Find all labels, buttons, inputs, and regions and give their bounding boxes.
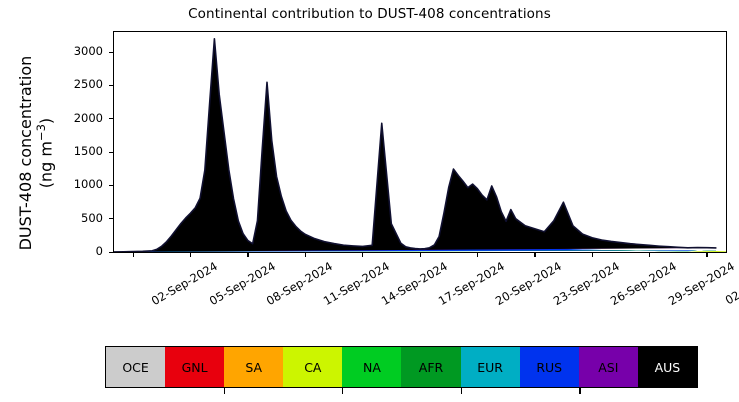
legend-cell-gnl[interactable]: GNL (165, 347, 224, 387)
chart-figure: Continental contribution to DUST-408 con… (0, 0, 739, 402)
legend-cell-rus[interactable]: RUS (520, 347, 579, 387)
legend-label: AFR (419, 360, 443, 375)
x-tick-mark (592, 253, 593, 257)
legend-cell-sa[interactable]: SA (224, 347, 283, 387)
legend-cell-ca[interactable]: CA (283, 347, 342, 387)
y-axis-label-exponent: −3 (34, 124, 48, 141)
legend-label: NA (363, 360, 381, 375)
x-tick-mark (190, 253, 191, 257)
x-tick-mark (362, 253, 363, 257)
x-tick-mark (477, 253, 478, 257)
y-tick-label: 500 (57, 211, 103, 225)
legend-cell-asi[interactable]: ASI (579, 347, 638, 387)
y-tick-label: 2500 (57, 77, 103, 91)
x-tick-mark (420, 253, 421, 257)
y-tick-label: 1500 (57, 144, 103, 158)
colorbar-tick (224, 388, 225, 394)
legend-label: ASI (598, 360, 618, 375)
colorbar-tick (461, 388, 462, 394)
y-axis-label: DUST-408 concentration (ng m−3) (17, 33, 55, 273)
legend-cell-afr[interactable]: AFR (401, 347, 460, 387)
category-colorbar-legend: OCEGNLSACANAAFREURRUSASIAUS (105, 346, 698, 388)
legend-cell-eur[interactable]: EUR (461, 347, 520, 387)
x-tick-mark (649, 253, 650, 257)
colorbar-tick (579, 388, 580, 394)
legend-label: OCE (122, 360, 148, 375)
area-series-aus (114, 39, 716, 252)
stacked-area-series (114, 32, 726, 252)
legend-label: EUR (477, 360, 503, 375)
y-axis-label-line2: (ng m−3) (35, 33, 55, 273)
legend-label: GNL (182, 360, 208, 375)
x-tick-mark (305, 253, 306, 257)
x-tick-mark (133, 253, 134, 257)
legend-label: CA (304, 360, 321, 375)
x-tick-mark (706, 253, 707, 257)
x-tick-mark (247, 253, 248, 257)
legend-label: AUS (655, 360, 681, 375)
y-tick-label: 2000 (57, 111, 103, 125)
legend-cell-oce[interactable]: OCE (106, 347, 165, 387)
legend-cell-aus[interactable]: AUS (638, 347, 697, 387)
legend-label: SA (245, 360, 262, 375)
legend-cell-na[interactable]: NA (342, 347, 401, 387)
plot-area (113, 31, 727, 253)
y-tick-label: 3000 (57, 44, 103, 58)
legend-label: RUS (536, 360, 562, 375)
x-tick-mark (534, 253, 535, 257)
chart-title: Continental contribution to DUST-408 con… (0, 6, 739, 22)
colorbar-tick (342, 388, 343, 394)
y-tick-label: 0 (57, 244, 103, 258)
y-tick-label: 1000 (57, 177, 103, 191)
y-axis-label-line1: DUST-408 concentration (16, 56, 35, 251)
